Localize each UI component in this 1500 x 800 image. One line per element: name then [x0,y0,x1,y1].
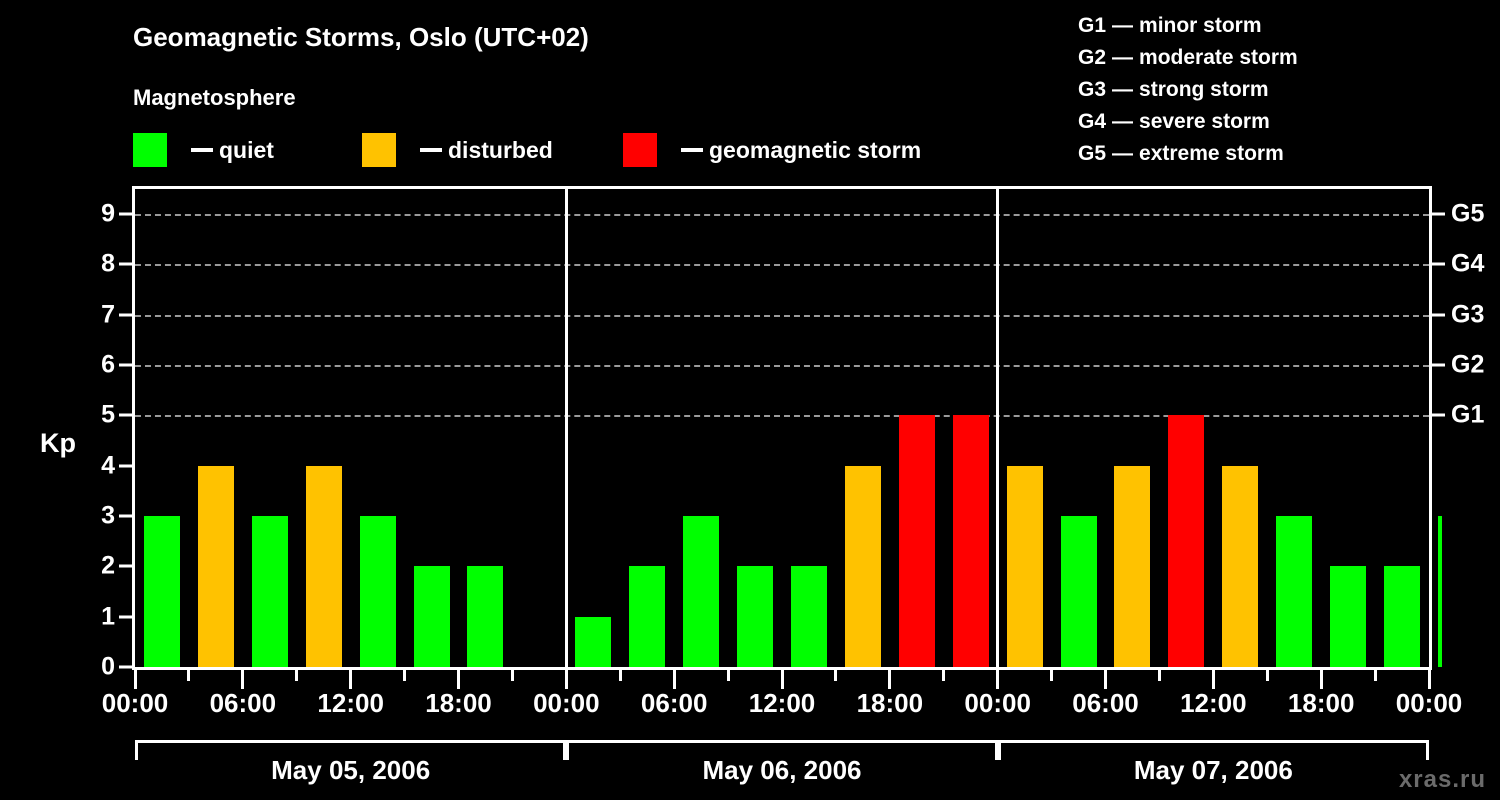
x-tick-major [1104,670,1107,689]
bar[interactable] [1114,466,1150,667]
bar[interactable] [1007,466,1043,667]
g-legend-description: minor storm [1139,14,1262,38]
x-tick-major [349,670,352,689]
gridline [135,365,1429,367]
x-tick-label: 12:00 [317,688,384,719]
g-legend-code: G3 [1078,78,1106,102]
x-tick-minor [834,670,837,681]
x-tick-label: 00:00 [102,688,169,719]
x-tick-label: 18:00 [1288,688,1355,719]
y-tick-mark [119,666,132,669]
y-axis-title: Kp [40,428,76,459]
y-tick-label: 9 [75,200,115,229]
g-legend-dash-icon: — [1106,14,1139,38]
x-tick-label: 12:00 [1180,688,1247,719]
g-legend-code: G1 [1078,14,1106,38]
g-tick-mark [1432,213,1445,216]
legend-entry-quiet: quiet [133,133,274,167]
x-tick-label: 18:00 [425,688,492,719]
y-tick-mark [119,364,132,367]
bar[interactable] [1222,466,1258,667]
plot-inner [135,189,1429,667]
legend-swatch-quiet-icon [133,133,167,167]
bar[interactable] [252,516,288,667]
g-legend-row-g1: G1—minor storm [1078,14,1298,46]
gridline [135,315,1429,317]
g-legend-description: moderate storm [1139,46,1298,70]
y-tick-label: 5 [75,401,115,430]
g-legend-description: strong storm [1139,78,1269,102]
x-tick-major [673,670,676,689]
x-tick-minor [1158,670,1161,681]
x-tick-minor [187,670,190,681]
bar[interactable] [737,566,773,667]
y-tick-label: 1 [75,602,115,631]
g-legend-description: severe storm [1139,110,1270,134]
g-legend-row-g5: G5—extreme storm [1078,142,1298,174]
x-tick-major [134,670,137,689]
y-tick-mark [119,565,132,568]
y-tick-label: 4 [75,451,115,480]
chart-root: Geomagnetic Storms, Oslo (UTC+02) Magnet… [0,0,1500,800]
x-tick-label: 06:00 [210,688,277,719]
page-title: Geomagnetic Storms, Oslo (UTC+02) [133,22,589,53]
x-tick-minor [511,670,514,681]
bar[interactable] [575,617,611,667]
bar[interactable] [1438,516,1442,667]
y-tick-mark [119,213,132,216]
y-tick-label: 0 [75,653,115,682]
bar[interactable] [629,566,665,667]
g-legend-row-g3: G3—strong storm [1078,78,1298,110]
y-tick-mark [119,414,132,417]
x-tick-major [781,670,784,689]
legend-swatch-storm-icon [623,133,657,167]
legend-label-quiet: quiet [219,133,274,167]
x-tick-minor [727,670,730,681]
watermark: xras.ru [1399,766,1486,794]
g-legend-row-g2: G2—moderate storm [1078,46,1298,78]
bar[interactable] [953,415,989,667]
y-tick-mark [119,313,132,316]
bar[interactable] [1330,566,1366,667]
bar[interactable] [1168,415,1204,667]
g-legend-dash-icon: — [1106,110,1139,134]
g-axis-tick-label: G1 [1451,401,1484,430]
g-axis-tick-label: G5 [1451,200,1484,229]
g-axis-tick-label: G2 [1451,351,1484,380]
g-tick-mark [1432,364,1445,367]
x-tick-minor [295,670,298,681]
y-tick-mark [119,263,132,266]
bar[interactable] [1276,516,1312,667]
bar[interactable] [144,516,180,667]
x-tick-major [1320,670,1323,689]
bar[interactable] [1384,566,1420,667]
subsystem-label: Magnetosphere [133,85,296,111]
g-legend-code: G4 [1078,110,1106,134]
y-tick-mark [119,464,132,467]
legend-swatch-disturbed-icon [362,133,396,167]
y-tick-label: 3 [75,502,115,531]
x-tick-label: 12:00 [749,688,816,719]
g-axis-tick-label: G4 [1451,250,1484,279]
x-tick-minor [403,670,406,681]
g-scale-legend: G1—minor stormG2—moderate stormG3—strong… [1078,14,1298,174]
g-legend-dash-icon: — [1106,142,1139,166]
legend-entry-storm: geomagnetic storm [623,133,921,167]
x-tick-minor [1266,670,1269,681]
bar[interactable] [845,466,881,667]
day-bracket-label: May 05, 2006 [271,755,430,786]
gridline [135,214,1429,216]
x-tick-major [1212,670,1215,689]
g-legend-dash-icon: — [1106,46,1139,70]
legend-entry-disturbed: disturbed [362,133,553,167]
day-bracket-label: May 07, 2006 [1134,755,1293,786]
x-tick-minor [942,670,945,681]
legend-dash-icon [681,148,703,152]
bar[interactable] [791,566,827,667]
legend-dash-icon [420,148,442,152]
g-tick-mark [1432,414,1445,417]
plot-area [132,186,1432,670]
bar[interactable] [899,415,935,667]
x-tick-label: 18:00 [857,688,924,719]
y-tick-label: 6 [75,351,115,380]
x-tick-label: 00:00 [1396,688,1463,719]
bar[interactable] [467,566,503,667]
g-tick-mark [1432,263,1445,266]
x-tick-label: 00:00 [964,688,1031,719]
g-axis-tick-label: G3 [1451,300,1484,329]
x-tick-label: 06:00 [641,688,708,719]
day-separator [565,189,568,667]
g-legend-code: G2 [1078,46,1106,70]
y-tick-label: 7 [75,300,115,329]
x-tick-major [996,670,999,689]
bar[interactable] [306,466,342,667]
bar[interactable] [360,516,396,667]
x-tick-major [457,670,460,689]
gridline [135,415,1429,417]
x-tick-minor [1050,670,1053,681]
gridline [135,264,1429,266]
legend-dash-icon [191,148,213,152]
x-tick-major [241,670,244,689]
g-legend-description: extreme storm [1139,142,1284,166]
day-separator [996,189,999,667]
legend-label-storm: geomagnetic storm [709,133,921,167]
g-legend-dash-icon: — [1106,78,1139,102]
g-legend-row-g4: G4—severe storm [1078,110,1298,142]
g-tick-mark [1432,313,1445,316]
x-tick-major [565,670,568,689]
x-tick-major [1428,670,1431,689]
legend-label-disturbed: disturbed [448,133,553,167]
y-tick-mark [119,615,132,618]
bar[interactable] [683,516,719,667]
y-tick-label: 8 [75,250,115,279]
day-bracket-label: May 06, 2006 [702,755,861,786]
x-tick-label: 00:00 [533,688,600,719]
x-tick-major [888,670,891,689]
x-tick-label: 06:00 [1072,688,1139,719]
bar[interactable] [414,566,450,667]
bar[interactable] [198,466,234,667]
x-tick-minor [619,670,622,681]
bar[interactable] [1061,516,1097,667]
y-tick-label: 2 [75,552,115,581]
x-tick-minor [1374,670,1377,681]
y-tick-mark [119,515,132,518]
g-legend-code: G5 [1078,142,1106,166]
